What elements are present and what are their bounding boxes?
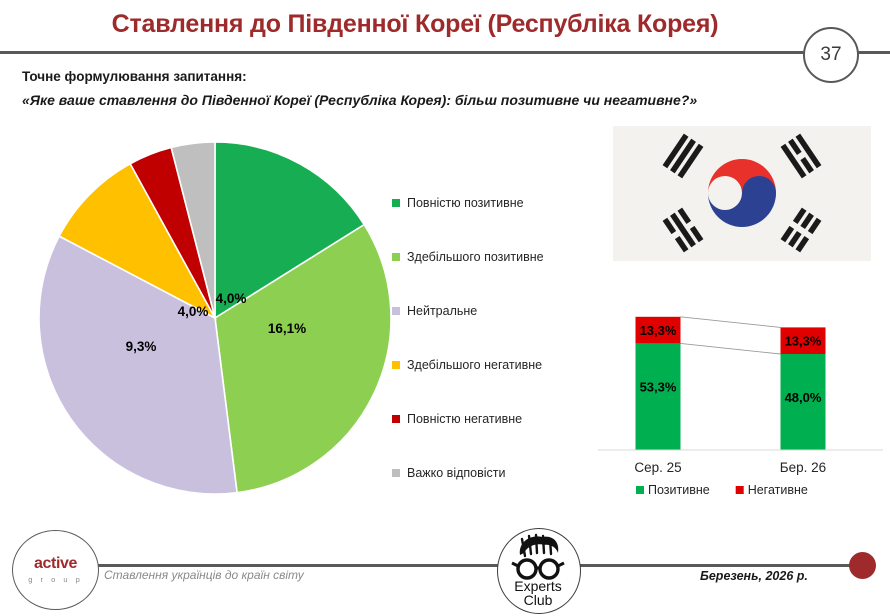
- svg-text:Club: Club: [524, 592, 553, 608]
- bar-legend-swatch-icon-1: [736, 486, 744, 494]
- bar-legend-label-0: Позитивне: [648, 483, 710, 497]
- south-korea-flag-image: [613, 126, 871, 261]
- bar-legend-label-1: Негативне: [748, 483, 808, 497]
- pie-data-label-3: 9,3%: [126, 339, 157, 354]
- legend-swatch-icon-3: [392, 361, 400, 369]
- legend-item-3[interactable]: Здебільшого негативне: [392, 338, 592, 392]
- connector-top: [681, 317, 781, 328]
- bar-legend-swatch-icon-0: [636, 486, 644, 494]
- pie-legend: Повністю позитивне Здебільшого позитивне…: [392, 176, 592, 500]
- legend-label-2: Нейтральне: [407, 304, 477, 318]
- active-group-logo-primary: active: [34, 556, 77, 572]
- stacked-bar-chart-svg: Сер. 25Бер. 26 13,3%53,3%13,3%48,0% Пози…: [598, 282, 883, 507]
- page-title: Ставлення до Південної Кореї (Республіка…: [0, 10, 830, 39]
- bar-positive-0[interactable]: [636, 343, 681, 450]
- stacked-bar-chart: Сер. 25Бер. 26 13,3%53,3%13,3%48,0% Пози…: [598, 282, 883, 507]
- pie-chart-svg: 16,1%31,9%34,7%9,3%4,0%4,0%: [35, 138, 395, 498]
- page-number-badge: 37: [803, 27, 859, 83]
- pie-data-label-0: 16,1%: [268, 321, 306, 336]
- pie-slices: [39, 142, 391, 494]
- footer-divider: [75, 564, 865, 567]
- legend-label-5: Важко відповісти: [407, 466, 506, 480]
- footer-caption: Ставлення українців до країн світу: [104, 568, 304, 582]
- bar-label-positive-1: 48,0%: [785, 390, 822, 405]
- bar-category-1: Бер. 26: [780, 460, 826, 475]
- legend-label-1: Здебільшого позитивне: [407, 250, 544, 264]
- bar-label-negative-0: 13,3%: [640, 323, 677, 338]
- pie-data-label-4: 4,0%: [178, 304, 209, 319]
- experts-club-logo-icon: Experts Club: [498, 529, 578, 611]
- legend-item-1[interactable]: Здебільшого позитивне: [392, 230, 592, 284]
- legend-swatch-icon-2: [392, 307, 400, 315]
- legend-item-2[interactable]: Нейтральне: [392, 284, 592, 338]
- active-group-logo: active g r o u p: [12, 530, 99, 610]
- category-axis: Сер. 25Бер. 26: [598, 450, 883, 475]
- pie-data-label-5: 4,0%: [216, 291, 247, 306]
- legend-item-5[interactable]: Важко відповісти: [392, 446, 592, 500]
- bar-category-0: Сер. 25: [634, 460, 681, 475]
- footer-accent-dot: [849, 552, 876, 579]
- bar-label-negative-1: 13,3%: [785, 334, 822, 349]
- pie-chart: 16,1%31,9%34,7%9,3%4,0%4,0%: [35, 138, 395, 498]
- bar-chart-legend[interactable]: ПозитивнеНегативне: [636, 483, 808, 497]
- legend-item-4[interactable]: Повністю негативне: [392, 392, 592, 446]
- active-group-logo-secondary: g r o u p: [28, 575, 83, 584]
- legend-label-0: Повністю позитивне: [407, 196, 524, 210]
- legend-item-0[interactable]: Повністю позитивне: [392, 176, 592, 230]
- legend-swatch-icon-1: [392, 253, 400, 261]
- legend-label-4: Повністю негативне: [407, 412, 522, 426]
- footer-date: Березень, 2026 р.: [700, 569, 808, 583]
- south-korea-flag-icon: [613, 126, 871, 261]
- slide-root: Ставлення до Південної Кореї (Республіка…: [0, 0, 890, 616]
- series-connectors: [681, 317, 781, 354]
- question-text: «Яке ваше ставлення до Південної Кореї (…: [22, 92, 697, 108]
- legend-label-3: Здебільшого негативне: [407, 358, 542, 372]
- legend-swatch-icon-4: [392, 415, 400, 423]
- bar-label-positive-0: 53,3%: [640, 379, 677, 394]
- experts-club-logo: Experts Club: [497, 528, 581, 614]
- connector-mid: [681, 343, 781, 354]
- legend-swatch-icon-0: [392, 199, 400, 207]
- question-label: Точне формулювання запитання:: [22, 69, 247, 84]
- header-divider: [0, 51, 890, 54]
- legend-swatch-icon-5: [392, 469, 400, 477]
